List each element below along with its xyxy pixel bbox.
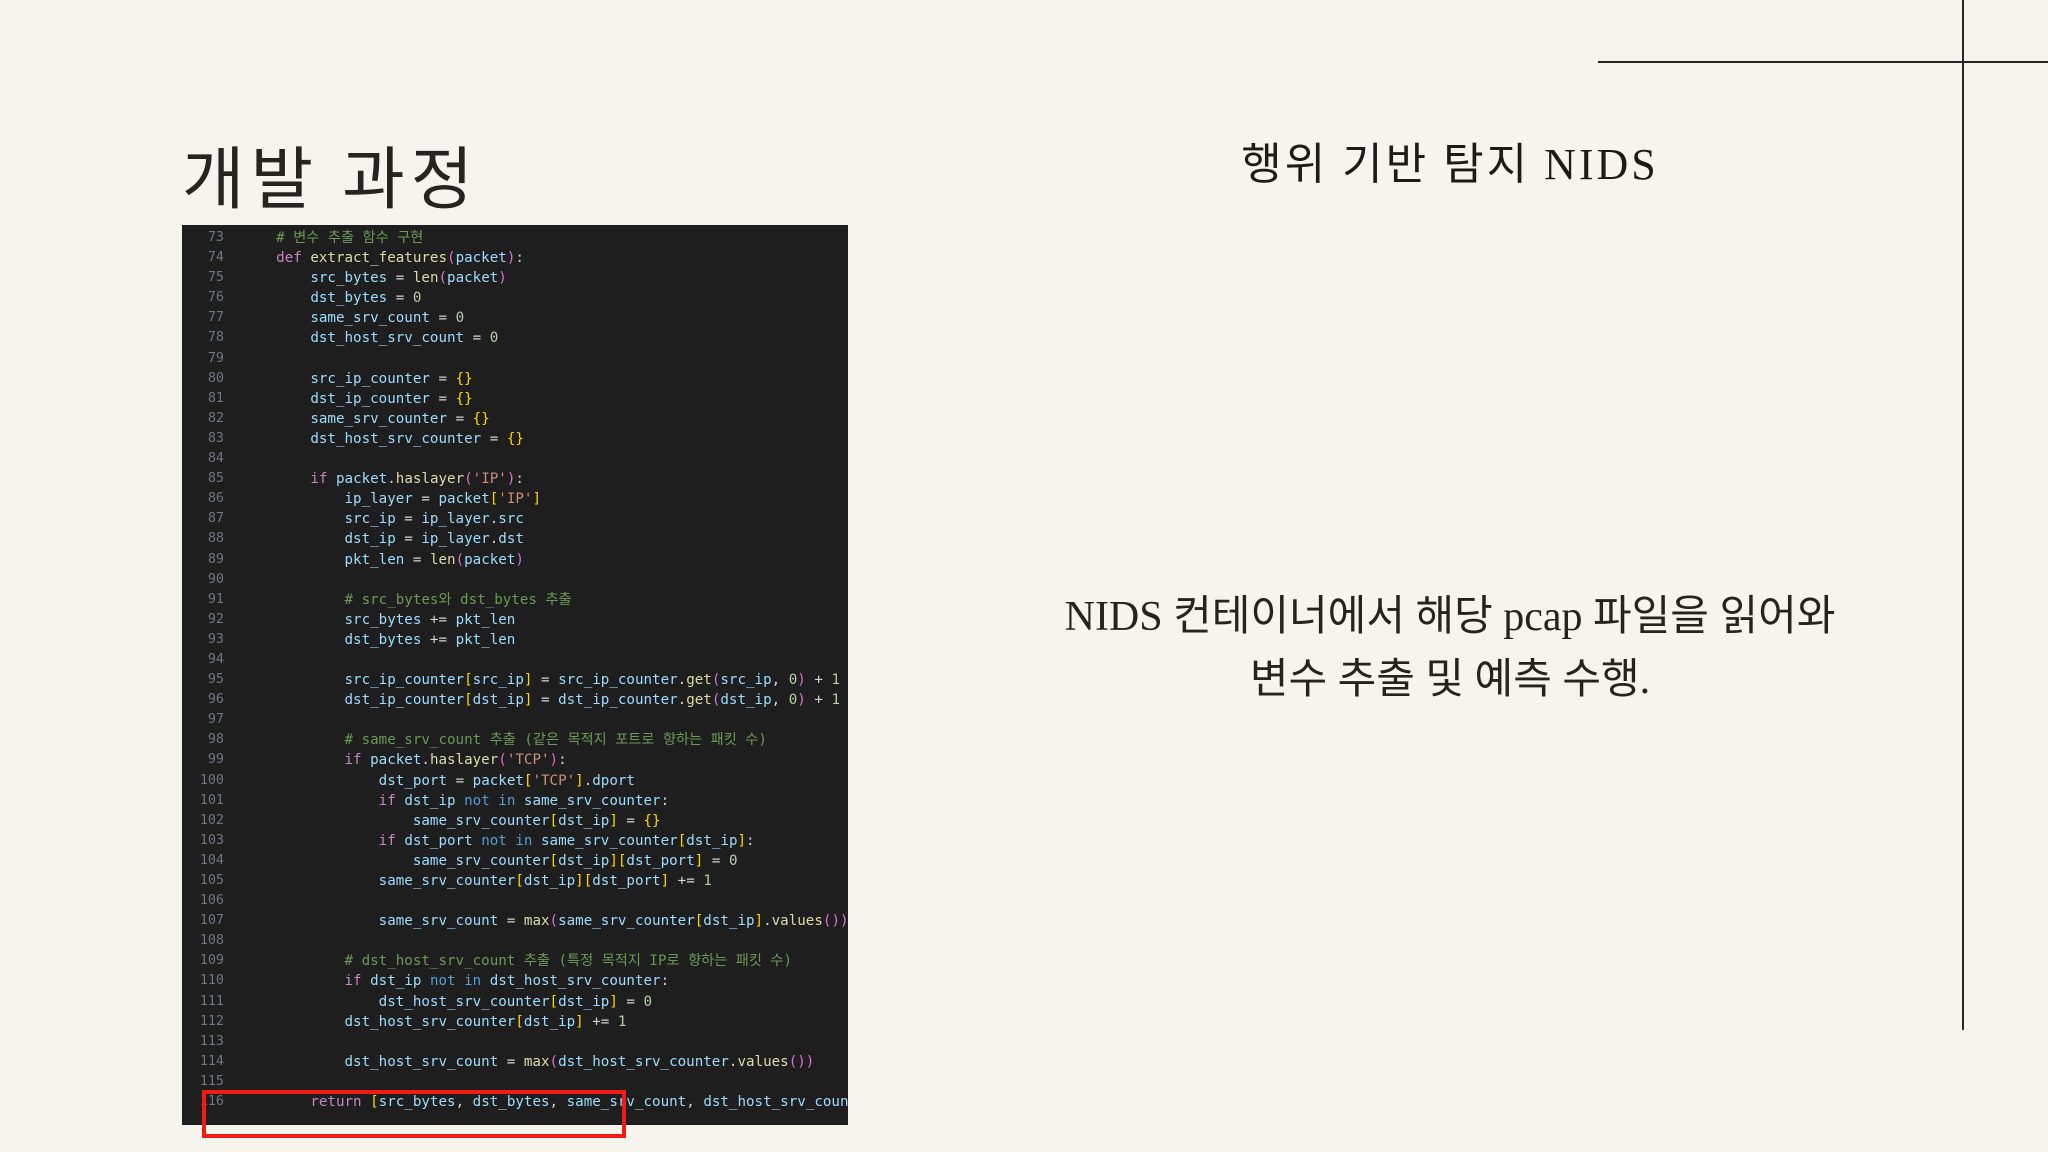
line-content: dst_host_srv_count = max(dst_host_srv_co…	[234, 1052, 814, 1072]
line-number: 113	[182, 1032, 234, 1052]
code-line: 83 dst_host_srv_counter = {}	[182, 429, 848, 449]
code-line: 79	[182, 349, 848, 369]
line-content: # src_bytes와 dst_bytes 추출	[234, 590, 572, 610]
body-line-2: 변수 추출 및 예측 수행.	[930, 649, 1970, 712]
line-number: 75	[182, 268, 234, 288]
code-screenshot: 73 # 변수 추출 함수 구현74 def extract_features(…	[182, 225, 848, 1125]
code-line: 97	[182, 710, 848, 730]
line-number: 94	[182, 650, 234, 670]
line-content: src_bytes = len(packet)	[234, 268, 507, 288]
line-number: 109	[182, 951, 234, 971]
code-line: 93 dst_bytes += pkt_len	[182, 630, 848, 650]
line-content: # dst_host_srv_count 추출 (특정 목적지 IP로 향하는 …	[234, 951, 792, 971]
code-line: 76 dst_bytes = 0	[182, 288, 848, 308]
line-number: 104	[182, 851, 234, 871]
line-number: 92	[182, 610, 234, 630]
code-line: 75 src_bytes = len(packet)	[182, 268, 848, 288]
code-line: 113	[182, 1032, 848, 1052]
line-number: 114	[182, 1052, 234, 1072]
line-number: 112	[182, 1012, 234, 1032]
line-number: 110	[182, 971, 234, 991]
code-line: 89 pkt_len = len(packet)	[182, 550, 848, 570]
line-content: same_srv_count = max(same_srv_counter[ds…	[234, 911, 848, 931]
line-number: 84	[182, 449, 234, 469]
code-line: 116 return [src_bytes, dst_bytes, same_s…	[182, 1092, 848, 1112]
code-line: 81 dst_ip_counter = {}	[182, 389, 848, 409]
line-number: 74	[182, 248, 234, 268]
line-content: same_srv_counter[dst_ip][dst_port] = 0	[234, 851, 737, 871]
code-line: 102 same_srv_counter[dst_ip] = {}	[182, 811, 848, 831]
line-number: 91	[182, 590, 234, 610]
line-number: 95	[182, 670, 234, 690]
line-content: ip_layer = packet['IP']	[234, 489, 541, 509]
line-number: 96	[182, 690, 234, 710]
line-content: pkt_len = len(packet)	[234, 550, 524, 570]
line-number: 82	[182, 409, 234, 429]
line-number: 79	[182, 349, 234, 369]
line-number: 80	[182, 369, 234, 389]
code-line: 108	[182, 931, 848, 951]
slide-canvas: 개발 과정 행위 기반 탐지 NIDS NIDS 컨테이너에서 해당 pcap …	[0, 0, 2048, 1152]
line-content: dst_host_srv_counter[dst_ip] += 1	[234, 1012, 626, 1032]
code-line: 82 same_srv_counter = {}	[182, 409, 848, 429]
code-line: 88 dst_ip = ip_layer.dst	[182, 529, 848, 549]
code-line: 84	[182, 449, 848, 469]
line-content: same_srv_counter = {}	[234, 409, 490, 429]
code-line: 86 ip_layer = packet['IP']	[182, 489, 848, 509]
line-number: 76	[182, 288, 234, 308]
code-line: 77 same_srv_count = 0	[182, 308, 848, 328]
code-line: 96 dst_ip_counter[dst_ip] = dst_ip_count…	[182, 690, 848, 710]
line-number: 78	[182, 328, 234, 348]
line-number: 98	[182, 730, 234, 750]
line-number: 105	[182, 871, 234, 891]
code-line: 107 same_srv_count = max(same_srv_counte…	[182, 911, 848, 931]
code-line: 112 dst_host_srv_counter[dst_ip] += 1	[182, 1012, 848, 1032]
code-lines-container: 73 # 변수 추출 함수 구현74 def extract_features(…	[182, 228, 848, 1112]
code-line: 91 # src_bytes와 dst_bytes 추출	[182, 590, 848, 610]
line-number: 87	[182, 509, 234, 529]
code-line: 114 dst_host_srv_count = max(dst_host_sr…	[182, 1052, 848, 1072]
code-line: 103 if dst_port not in same_srv_counter[…	[182, 831, 848, 851]
line-content: dst_port = packet['TCP'].dport	[234, 771, 635, 791]
code-line: 100 dst_port = packet['TCP'].dport	[182, 771, 848, 791]
line-number: 77	[182, 308, 234, 328]
line-content: # 변수 추출 함수 구현	[234, 228, 423, 248]
line-content: src_ip = ip_layer.src	[234, 509, 524, 529]
line-content: dst_host_srv_counter = {}	[234, 429, 524, 449]
line-number: 115	[182, 1072, 234, 1092]
line-content: if dst_port not in same_srv_counter[dst_…	[234, 831, 755, 851]
line-content: def extract_features(packet):	[234, 248, 524, 268]
line-number: 85	[182, 469, 234, 489]
line-content: same_srv_counter[dst_ip] = {}	[234, 811, 661, 831]
code-line: 80 src_ip_counter = {}	[182, 369, 848, 389]
code-line: 73 # 변수 추출 함수 구현	[182, 228, 848, 248]
decorative-horizontal-rule	[1598, 61, 2048, 63]
line-content: dst_ip = ip_layer.dst	[234, 529, 524, 549]
line-content: src_ip_counter[src_ip] = src_ip_counter.…	[234, 670, 840, 690]
code-line: 95 src_ip_counter[src_ip] = src_ip_count…	[182, 670, 848, 690]
line-content: same_srv_counter[dst_ip][dst_port] += 1	[234, 871, 712, 891]
code-line: 105 same_srv_counter[dst_ip][dst_port] +…	[182, 871, 848, 891]
code-line: 101 if dst_ip not in same_srv_counter:	[182, 791, 848, 811]
code-line: 106	[182, 891, 848, 911]
line-number: 99	[182, 750, 234, 770]
code-line: 78 dst_host_srv_count = 0	[182, 328, 848, 348]
line-number: 106	[182, 891, 234, 911]
code-line: 94	[182, 650, 848, 670]
line-content: if dst_ip not in same_srv_counter:	[234, 791, 669, 811]
line-content: dst_ip_counter[dst_ip] = dst_ip_counter.…	[234, 690, 840, 710]
line-content: src_ip_counter = {}	[234, 369, 473, 389]
line-number: 88	[182, 529, 234, 549]
line-content: dst_bytes += pkt_len	[234, 630, 515, 650]
line-number: 102	[182, 811, 234, 831]
code-line: 98 # same_srv_count 추출 (같은 목적지 포트로 향하는 패…	[182, 730, 848, 750]
line-content: dst_ip_counter = {}	[234, 389, 473, 409]
line-content: # same_srv_count 추출 (같은 목적지 포트로 향하는 패킷 수…	[234, 730, 767, 750]
line-number: 89	[182, 550, 234, 570]
line-content: dst_host_srv_counter[dst_ip] = 0	[234, 992, 652, 1012]
page-title: 개발 과정	[182, 124, 479, 223]
line-content: src_bytes += pkt_len	[234, 610, 515, 630]
body-description: NIDS 컨테이너에서 해당 pcap 파일을 읽어와 변수 추출 및 예측 수…	[930, 586, 1970, 712]
line-number: 73	[182, 228, 234, 248]
body-line-1: NIDS 컨테이너에서 해당 pcap 파일을 읽어와	[930, 586, 1970, 649]
line-number: 90	[182, 570, 234, 590]
line-content: return [src_bytes, dst_bytes, same_srv_c…	[234, 1092, 848, 1112]
code-line: 74 def extract_features(packet):	[182, 248, 848, 268]
line-number: 100	[182, 771, 234, 791]
line-number: 83	[182, 429, 234, 449]
line-content: same_srv_count = 0	[234, 308, 464, 328]
code-line: 115	[182, 1072, 848, 1092]
line-number: 111	[182, 992, 234, 1012]
code-line: 104 same_srv_counter[dst_ip][dst_port] =…	[182, 851, 848, 871]
line-number: 97	[182, 710, 234, 730]
decorative-vertical-rule	[1962, 0, 1964, 1030]
line-number: 81	[182, 389, 234, 409]
line-content: if packet.haslayer('IP'):	[234, 469, 524, 489]
line-content: dst_host_srv_count = 0	[234, 328, 498, 348]
line-number: 93	[182, 630, 234, 650]
code-line: 87 src_ip = ip_layer.src	[182, 509, 848, 529]
code-line: 90	[182, 570, 848, 590]
line-content: if packet.haslayer('TCP'):	[234, 750, 567, 770]
line-content: if dst_ip not in dst_host_srv_counter:	[234, 971, 669, 991]
code-line: 110 if dst_ip not in dst_host_srv_counte…	[182, 971, 848, 991]
line-number: 107	[182, 911, 234, 931]
line-number: 108	[182, 931, 234, 951]
code-line: 92 src_bytes += pkt_len	[182, 610, 848, 630]
section-heading: 행위 기반 탐지 NIDS	[1010, 128, 1890, 192]
code-line: 109 # dst_host_srv_count 추출 (특정 목적지 IP로 …	[182, 951, 848, 971]
line-number: 101	[182, 791, 234, 811]
line-number: 116	[182, 1092, 234, 1112]
line-content: dst_bytes = 0	[234, 288, 421, 308]
line-number: 86	[182, 489, 234, 509]
code-line: 99 if packet.haslayer('TCP'):	[182, 750, 848, 770]
code-line: 85 if packet.haslayer('IP'):	[182, 469, 848, 489]
line-number: 103	[182, 831, 234, 851]
code-line: 111 dst_host_srv_counter[dst_ip] = 0	[182, 992, 848, 1012]
